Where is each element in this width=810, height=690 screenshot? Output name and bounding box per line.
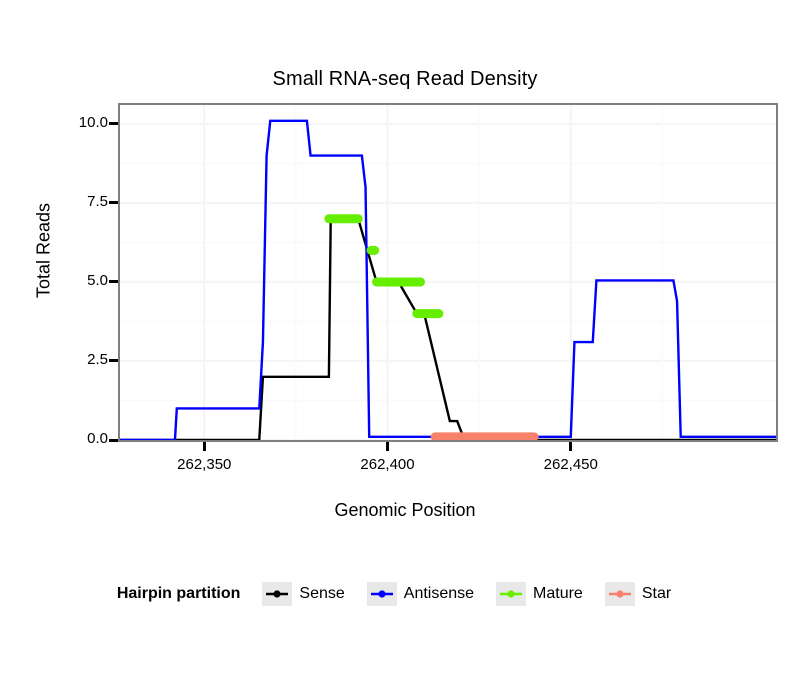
plot-area <box>120 105 776 440</box>
x-tick-label: 262,400 <box>328 456 448 473</box>
chart-legend: Hairpin partition SenseAntisenseMatureSt… <box>0 582 810 606</box>
series-line-antisense <box>120 121 776 440</box>
y-tick-mark <box>109 280 118 283</box>
x-tick-mark <box>203 442 206 451</box>
line-point-icon <box>605 582 635 606</box>
y-tick-label: 7.5 <box>64 193 108 210</box>
x-axis-title: Genomic Position <box>0 500 810 521</box>
line-point-icon <box>367 582 397 606</box>
legend-title: Hairpin partition <box>117 585 241 603</box>
x-tick-mark <box>569 442 572 451</box>
legend-item-mature[interactable]: Mature <box>496 582 597 606</box>
y-axis-title: Total Reads <box>34 171 55 331</box>
y-tick-mark <box>109 439 118 442</box>
line-point-icon <box>262 582 292 606</box>
y-tick-label: 10.0 <box>64 114 108 131</box>
y-tick-mark <box>109 359 118 362</box>
y-tick-mark <box>109 201 118 204</box>
chart-root: Small RNA-seq Read Density Total Reads 0… <box>0 0 810 690</box>
x-tick-label: 262,350 <box>144 456 264 473</box>
legend-item-label: Antisense <box>404 585 474 603</box>
legend-items: SenseAntisenseMatureStar <box>262 582 693 606</box>
legend-item-star[interactable]: Star <box>605 582 685 606</box>
legend-item-label: Mature <box>533 585 583 603</box>
legend-item-antisense[interactable]: Antisense <box>367 582 488 606</box>
page-title: Small RNA-seq Read Density <box>0 68 810 91</box>
x-tick-label: 262,450 <box>511 456 631 473</box>
legend-item-label: Star <box>642 585 671 603</box>
y-tick-label: 0.0 <box>64 430 108 447</box>
legend-item-sense[interactable]: Sense <box>262 582 358 606</box>
y-tick-label: 5.0 <box>64 272 108 289</box>
x-tick-mark <box>386 442 389 451</box>
line-point-icon <box>496 582 526 606</box>
y-tick-mark <box>109 122 118 125</box>
y-tick-label: 2.5 <box>64 351 108 368</box>
legend-item-label: Sense <box>299 585 344 603</box>
plot-panel <box>118 103 778 442</box>
